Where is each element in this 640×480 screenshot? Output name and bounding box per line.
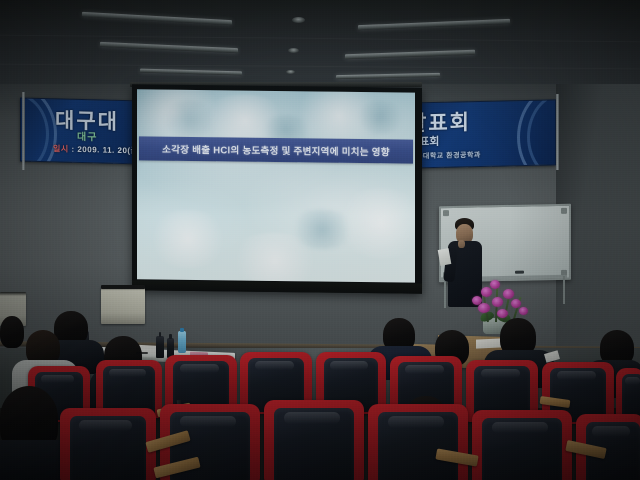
audience-head [0,316,24,348]
slide-title-text: 소각장 배출 HCl의 농도측정 및 주변지역에 미치는 영향 [162,142,390,159]
whiteboard-leg [563,276,565,304]
ceiling-light-fixture [100,42,238,53]
banner-pole [22,92,25,170]
banner-left-subtitle: 대구 [77,128,97,143]
seat-cushion[interactable] [482,418,562,480]
orchid-bloom [492,297,503,307]
lecture-hall-photo: 대구대 대구 일시 : 2009. 11. 20(금 발표회 발표회 대구대학교… [0,0,640,480]
orchid-bloom [490,280,500,289]
podium-papers [476,338,502,348]
seat[interactable] [60,408,156,480]
ceiling [0,0,640,86]
seat-cushion[interactable] [274,408,354,480]
radiator-top-grille [101,285,145,289]
orchid-bloom [511,299,521,308]
ceiling-seam [0,64,640,69]
orchid-bloom [497,309,508,318]
ceiling-light-fixture [82,12,232,25]
presenter-hand [458,240,465,248]
ceiling-speaker-icon [292,17,305,23]
ceiling-speaker-icon [288,48,299,53]
audience-glasses [136,352,148,354]
orchid-bloom [478,303,490,313]
slide-title-bar: 소각장 배출 HCl의 농도측정 및 주변지역에 미치는 영향 [139,136,413,163]
cloud-shadow-shape [287,209,357,250]
projection-screen: 소각장 배출 HCl의 농도측정 및 주변지역에 미치는 영향 [132,84,422,294]
seat[interactable] [472,410,572,480]
banner-left-date-label: 일시 [53,144,69,153]
seat[interactable] [368,404,468,480]
table-bottle [156,336,164,358]
banner-left-date-value: 2009. 11. 20(금 [77,145,138,155]
orchid-bloom [503,289,514,299]
whiteboard-leg [444,278,446,308]
seat-cushion[interactable] [70,416,146,480]
seat[interactable] [264,400,364,480]
ceiling-light-fixture [140,69,242,76]
ceiling-speaker-icon [286,70,295,74]
orchid-bloom [481,287,492,297]
seat-cushion[interactable] [378,412,458,480]
table-water-bottle [178,331,186,353]
projected-slide: 소각장 배출 HCl의 농도측정 및 주변지역에 미치는 영향 [137,89,415,282]
banner-right: 발표회 발표회 대구대학교 환경공학과 [404,99,556,168]
ceiling-seam [0,35,640,43]
banner-pole [556,94,559,170]
ceiling-light-fixture [336,73,440,79]
ceiling-light-fixture [345,50,475,60]
cloud-shadow-shape [353,100,407,135]
wall-radiator [101,286,145,324]
whiteboard-corner [443,210,449,216]
ceiling-light-fixture [358,19,510,30]
orchid-bloom [519,307,528,315]
whiteboard-corner [561,208,567,214]
cloud-shadow-shape [157,100,221,139]
banner-left: 대구대 대구 일시 : 2009. 11. 20(금 [20,97,144,164]
cloud-shape [145,209,231,268]
whiteboard-marker [515,271,524,274]
